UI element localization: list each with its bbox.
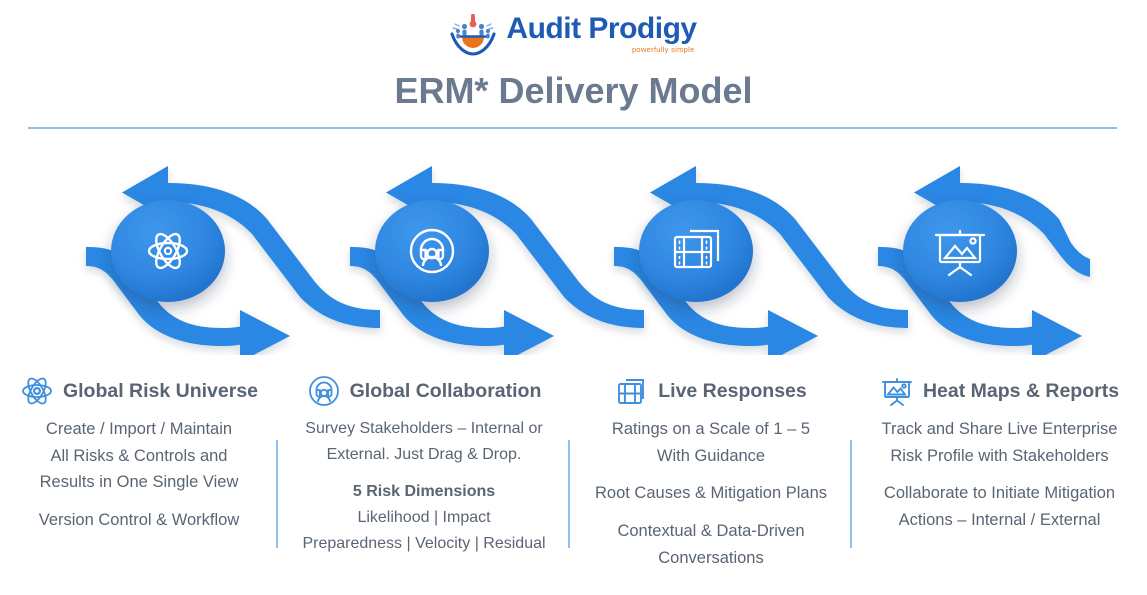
text-line: Likelihood | Impact [278,505,570,531]
text-line: Preparedness | Velocity | Residual [278,531,570,557]
erm-flow-diagram [0,150,1147,355]
column-title: Global Collaboration [350,380,542,403]
flow-stage-1 [111,200,225,302]
feature-column-heat-maps-reports: Heat Maps & Reports Track and Share Live… [852,370,1147,595]
text-block: Version Control & Workflow [0,507,278,534]
column-title: Global Risk Universe [63,380,258,403]
title-divider [28,127,1117,129]
feature-column-global-risk-universe: Global Risk Universe Create / Import / M… [0,370,278,595]
text-line: Survey Stakeholders – Internal or [278,416,570,442]
column-body: Track and Share Live Enterprise Risk Pro… [852,412,1147,545]
text-block: 5 Risk Dimensions Likelihood | Impact Pr… [278,479,570,557]
text-block: Ratings on a Scale of 1 – 5 With Guidanc… [570,416,852,469]
text-block: Contextual & Data-Driven Conversations [570,518,852,571]
text-block: Survey Stakeholders – Internal or Extern… [278,416,570,468]
text-block: Collaborate to Initiate Mitigation Actio… [852,480,1147,533]
column-header: Heat Maps & Reports [852,370,1147,412]
feature-column-live-responses: Live Responses Ratings on a Scale of 1 –… [570,370,852,595]
column-body: Create / Import / Maintain All Risks & C… [0,412,278,545]
column-header: Global Risk Universe [0,370,278,412]
text-line: With Guidance [570,443,852,470]
flow-stage-4 [903,200,1017,302]
text-line: Actions – Internal / External [852,507,1147,534]
flow-stage-2 [375,200,489,302]
text-line: Ratings on a Scale of 1 – 5 [570,416,852,443]
column-body: Survey Stakeholders – Internal or Extern… [278,412,570,568]
text-block: Root Causes & Mitigation Plans [570,480,852,507]
text-block: Track and Share Live Enterprise Risk Pro… [852,416,1147,469]
presentation-chart-icon [880,374,914,408]
text-line: Version Control & Workflow [0,507,278,534]
brand-tagline: powerfully simple [632,46,695,54]
column-header: Live Responses [570,370,852,412]
column-title: Heat Maps & Reports [923,380,1119,403]
feature-columns: Global Risk Universe Create / Import / M… [0,370,1147,595]
text-line-bold: 5 Risk Dimensions [278,479,570,505]
text-line: Track and Share Live Enterprise [852,416,1147,443]
text-line: External. Just Drag & Drop. [278,442,570,468]
text-line: Contextual & Data-Driven [570,518,852,545]
flow-stage-3 [639,200,753,302]
page-title: ERM* Delivery Model [0,70,1147,112]
text-line: Root Causes & Mitigation Plans [570,480,852,507]
text-line: All Risks & Controls and [0,443,278,470]
film-frames-icon [615,374,649,408]
column-body: Ratings on a Scale of 1 – 5 With Guidanc… [570,412,852,583]
text-line: Collaborate to Initiate Mitigation [852,480,1147,507]
atom-icon [20,374,54,408]
brand-name: Audit Prodigy [506,14,696,44]
brand-header: Audit Prodigy powerfully simple [0,10,1147,58]
column-title: Live Responses [658,380,806,403]
text-line: Create / Import / Maintain [0,416,278,443]
text-block: Create / Import / Maintain All Risks & C… [0,416,278,496]
text-line: Conversations [570,545,852,572]
headset-user-icon [307,374,341,408]
column-header: Global Collaboration [278,370,570,412]
text-line: Risk Profile with Stakeholders [852,443,1147,470]
audit-prodigy-logo-icon [450,12,496,56]
text-line: Results in One Single View [0,469,278,496]
feature-column-global-collaboration: Global Collaboration Survey Stakeholders… [278,370,570,595]
